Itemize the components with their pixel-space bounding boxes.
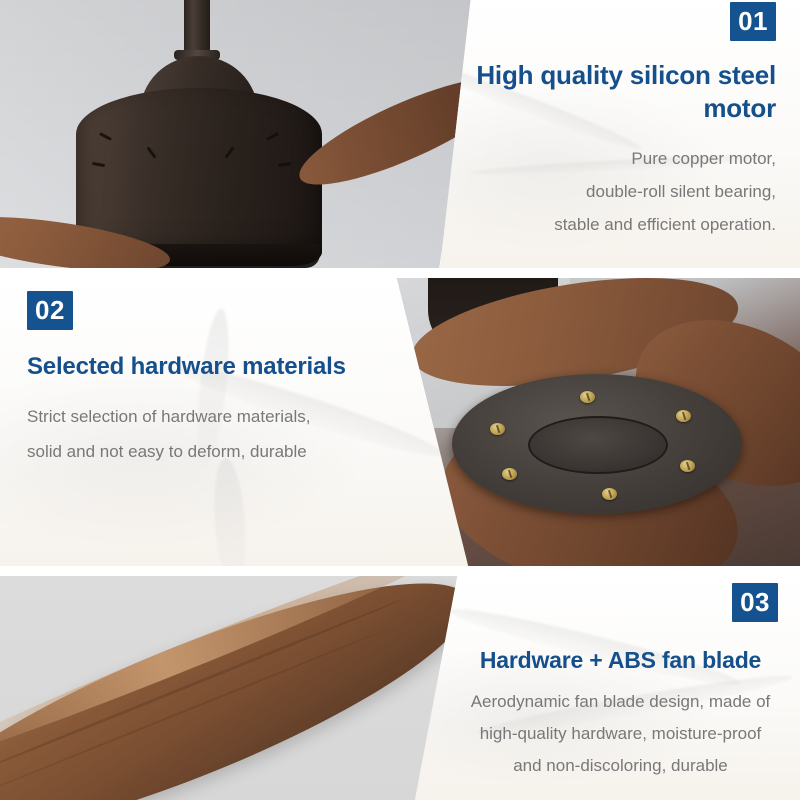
section-headline-01: High quality silicon steel motor: [440, 59, 776, 125]
section-body-line-03-2: high-quality hardware, moisture-proof: [463, 718, 778, 750]
brass-screw-6: [490, 423, 505, 435]
section-body-line-03-1: Aerodynamic fan blade design, made of: [463, 686, 778, 718]
section-body-line-02-1: Strict selection of hardware materials,: [27, 399, 470, 434]
feature-section-03: 03 Hardware + ABS fan blade Aerodynamic …: [0, 576, 800, 800]
brass-screw-2: [676, 410, 691, 422]
brass-screw-4: [602, 488, 617, 500]
brass-screw-1: [580, 391, 595, 403]
section-headline-02: Selected hardware materials: [27, 351, 470, 382]
section-headline-03: Hardware + ABS fan blade: [463, 645, 778, 675]
section-body-line-01-1: Pure copper motor,: [440, 142, 776, 175]
brass-screw-3: [680, 460, 695, 472]
feature-section-02: 02 Selected hardware materials Strict se…: [0, 278, 800, 566]
feature-section-01: 01 High quality silicon steel motor Pure…: [0, 0, 800, 268]
feature-text-03: 03 Hardware + ABS fan blade Aerodynamic …: [415, 576, 800, 800]
section-number-badge-03: 03: [732, 583, 778, 622]
panel-divider-1: [0, 268, 800, 278]
badge-wrapper-03: 03: [463, 583, 778, 622]
section-body-line-02-2: solid and not easy to deform, durable: [27, 434, 470, 469]
feature-image-01: [0, 0, 480, 268]
badge-wrapper-01: 01: [440, 2, 776, 41]
motor-photo-art: [0, 0, 480, 268]
feature-text-02: 02 Selected hardware materials Strict se…: [0, 278, 470, 566]
feature-text-01: 01 High quality silicon steel motor Pure…: [440, 0, 800, 268]
section-body-line-03-3: and non-discoloring, durable: [463, 750, 778, 782]
section-number-badge-02: 02: [27, 291, 73, 330]
panel-divider-2: [0, 566, 800, 576]
section-body-line-01-2: double-roll silent bearing,: [440, 175, 776, 208]
section-number-badge-01: 01: [730, 2, 776, 41]
hub-inner-cap: [528, 416, 668, 474]
brass-screw-5: [502, 468, 517, 480]
section-body-line-01-3: stable and efficient operation.: [440, 208, 776, 241]
feature-page: 01 High quality silicon steel motor Pure…: [0, 0, 800, 800]
